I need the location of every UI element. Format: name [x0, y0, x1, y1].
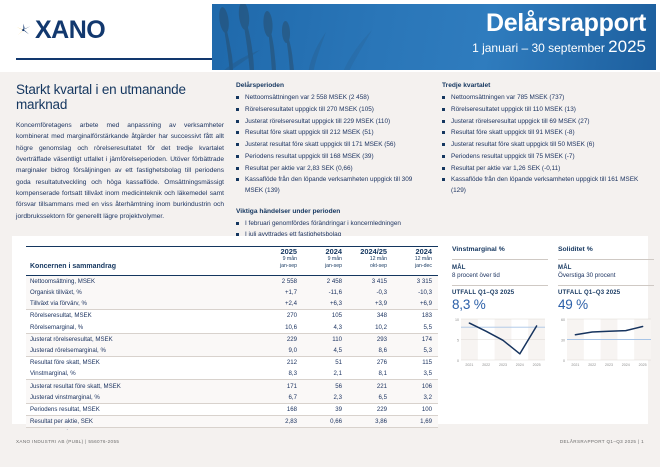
list-item: Kassaflöde från den löpande verksamheten…	[236, 175, 432, 196]
kpi-goal-label: MÅL	[452, 265, 548, 271]
table-title: Koncernen i sammandrag	[26, 247, 258, 276]
kpi-goal-text: Överstiga 30 procent	[558, 272, 654, 279]
tredje-kvartalet-title: Tredje kvartalet	[442, 82, 648, 89]
column-header: 2024 9 mån jan-sep	[303, 247, 348, 276]
svg-text:60: 60	[561, 318, 565, 322]
svg-text:30: 30	[561, 339, 565, 343]
svg-text:2021: 2021	[571, 363, 579, 367]
divider	[452, 285, 548, 286]
handelser-title: Viktiga händelser under perioden	[236, 208, 432, 215]
kpi-outcome-label: UTFALL Q1–Q3 2025	[558, 290, 654, 296]
svg-text:2022: 2022	[482, 363, 490, 367]
list-item: Resultat före skatt uppgick till 91 MSEK…	[442, 128, 648, 138]
header-rule	[16, 58, 212, 60]
list-item: Periodens resultat uppgick till 75 MSEK …	[442, 152, 648, 162]
column-header: 2024 12 mån jan-dec	[393, 247, 438, 276]
delarsperioden-column: Delårsperioden Nettoomsättningen var 2 5…	[236, 82, 432, 254]
table-row: Periodens resultat, MSEK 168 39 229 100	[26, 403, 438, 415]
delarsperioden-title: Delårsperioden	[236, 82, 432, 89]
list-item: Resultat per aktie var 2,83 SEK (0,66)	[236, 164, 432, 174]
table-row: Justerat resultat före skatt, MSEK 171 5…	[26, 380, 438, 392]
list-item: Rörelseresultatet uppgick till 110 MSEK …	[442, 105, 648, 115]
line-chart-svg: 0306020212022202320242025	[558, 316, 654, 374]
svg-text:0: 0	[563, 359, 565, 363]
table-header-row: Koncernen i sammandrag 2025 9 mån jan-se…	[26, 247, 438, 276]
svg-text:0: 0	[457, 359, 459, 363]
table-row: Vinstmarginal, % 8,3 2,1 8,1 3,5	[26, 368, 438, 380]
list-item: Justerat rörelseresultat uppgick till 22…	[236, 117, 432, 127]
divider	[558, 259, 654, 260]
report-period-text: 1 januari – 30 september	[472, 41, 605, 55]
list-item: Justerat resultat före skatt uppgick til…	[442, 140, 648, 150]
table-row: Tillväxt via förvärv, % +2,4 +6,3 +3,9 +…	[26, 298, 438, 310]
divider	[452, 259, 548, 260]
table-row: Resultat per aktie, SEK 2,83 0,66 3,86 1…	[26, 416, 438, 428]
list-item: Nettoomsättningen var 785 MSEK (737)	[442, 93, 648, 103]
kpi-outcome-value: 49 %	[558, 297, 654, 312]
table-row: Rörelseresultat, MSEK 270 105 348 183	[26, 310, 438, 322]
footer-right: DELÅRSRAPPORT Q1–Q3 2025 | 1	[560, 439, 644, 444]
kpi-soliditet: Soliditet % MÅL Överstiga 30 procent UTF…	[558, 246, 654, 374]
report-period: 1 januari – 30 september 2025	[472, 37, 646, 57]
summary-table-body: Nettoomsättning, MSEK 2 558 2 458 3 415 …	[26, 275, 438, 452]
table-row: Nettoomsättning, MSEK 2 558 2 458 3 415 …	[26, 275, 438, 287]
banner-title-block: Delårsrapport 1 januari – 30 september 2…	[472, 10, 646, 58]
table-row: Resultat före skatt, MSEK 212 51 276 115	[26, 357, 438, 369]
summary-table: Koncernen i sammandrag 2025 9 mån jan-se…	[26, 246, 438, 453]
svg-text:2024: 2024	[622, 363, 630, 367]
footer-left: XANO INDUSTRI AB (PUBL) | 556076-2055	[16, 439, 119, 444]
top-content: Starkt kvartal i en utmanande marknad Ko…	[0, 74, 660, 232]
column-header: 2024/25 12 mån okt-sep	[348, 247, 393, 276]
kpi-heading: Soliditet %	[558, 246, 654, 253]
table-row: Organisk tillväxt, % +1,7 -11,6 -0,3 -10…	[26, 287, 438, 298]
report-title: Delårsrapport	[472, 10, 646, 36]
report-page: XANO Delårsrappo	[0, 0, 660, 467]
kpi-heading: Vinstmarginal %	[452, 246, 548, 253]
svg-text:2023: 2023	[605, 363, 613, 367]
svg-text:2023: 2023	[499, 363, 507, 367]
kpi-goal-label: MÅL	[558, 265, 654, 271]
list-item: Kassaflöde från den löpande verksamheten…	[442, 175, 648, 196]
kpi-outcome-label: UTFALL Q1–Q3 2025	[452, 290, 548, 296]
svg-text:2021: 2021	[465, 363, 473, 367]
delarsperioden-list: Nettoomsättningen var 2 558 MSEK (2 458)…	[236, 93, 432, 196]
svg-text:2025: 2025	[639, 363, 647, 367]
svg-text:2025: 2025	[533, 363, 541, 367]
svg-text:10: 10	[455, 318, 459, 322]
list-item: Justerat rörelseresultat uppgick till 69…	[442, 117, 648, 127]
svg-text:5: 5	[457, 339, 459, 343]
intro-body: Koncernföretagens arbete med anpassning …	[16, 120, 224, 222]
tredje-kvartalet-list: Nettoomsättningen var 785 MSEK (737) Rör…	[442, 93, 648, 196]
summary-card: Koncernen i sammandrag 2025 9 mån jan-se…	[12, 236, 648, 424]
svg-text:2024: 2024	[516, 363, 524, 367]
header-banner-image: Delårsrapport 1 januari – 30 september 2…	[212, 4, 656, 70]
list-item: Nettoomsättningen var 2 558 MSEK (2 458)	[236, 93, 432, 103]
intro-heading: Starkt kvartal i en utmanande marknad	[16, 82, 224, 112]
tredje-kvartalet-column: Tredje kvartalet Nettoomsättningen var 7…	[442, 82, 648, 198]
line-chart-svg: 051020212022202320242025	[452, 316, 548, 374]
report-year: 2025	[608, 37, 646, 56]
spacer	[236, 198, 432, 208]
logo-wordmark: XANO	[35, 18, 105, 43]
xano-star-icon	[16, 23, 31, 38]
table-row: Rörelsemarginal, % 10,6 4,3 10,2 5,5	[26, 322, 438, 334]
list-item: I februari genomfördes förändringar i ko…	[236, 219, 432, 229]
table-row: Justerat rörelseresultat, MSEK 229 110 2…	[26, 333, 438, 345]
list-item: Resultat per aktie var 1,26 SEK (-0,11)	[442, 164, 648, 174]
svg-text:2022: 2022	[588, 363, 596, 367]
list-item: Rörelseresultatet uppgick till 270 MSEK …	[236, 105, 432, 115]
xano-logo[interactable]: XANO	[16, 18, 105, 43]
divider	[558, 285, 654, 286]
reed-silhouette-icon	[212, 4, 412, 70]
table-row: Justerad vinstmarginal, % 6,7 2,3 6,5 3,…	[26, 392, 438, 404]
list-item: Periodens resultat uppgick till 168 MSEK…	[236, 152, 432, 162]
kpi-goal-text: 8 procent över tid	[452, 272, 548, 279]
kpi-vinstmarginal: Vinstmarginal % MÅL 8 procent över tid U…	[452, 246, 548, 374]
chart-soliditet: 0306020212022202320242025	[558, 316, 654, 374]
summary-table-wrap: Koncernen i sammandrag 2025 9 mån jan-se…	[26, 246, 438, 453]
kpi-outcome-value: 8,3 %	[452, 297, 548, 312]
chart-vinstmarginal: 051020212022202320242025	[452, 316, 548, 374]
page-header: XANO Delårsrappo	[0, 0, 660, 72]
intro-column: Starkt kvartal i en utmanande marknad Ko…	[16, 82, 224, 222]
page-footer: XANO INDUSTRI AB (PUBL) | 556076-2055 DE…	[0, 430, 660, 467]
list-item: Justerat resultat före skatt uppgick til…	[236, 140, 432, 150]
table-row: Justerad rörelsemarginal, % 9,0 4,5 8,6 …	[26, 345, 438, 357]
list-item: Resultat före skatt uppgick till 212 MSE…	[236, 128, 432, 138]
column-header: 2025 9 mån jan-sep	[258, 247, 303, 276]
